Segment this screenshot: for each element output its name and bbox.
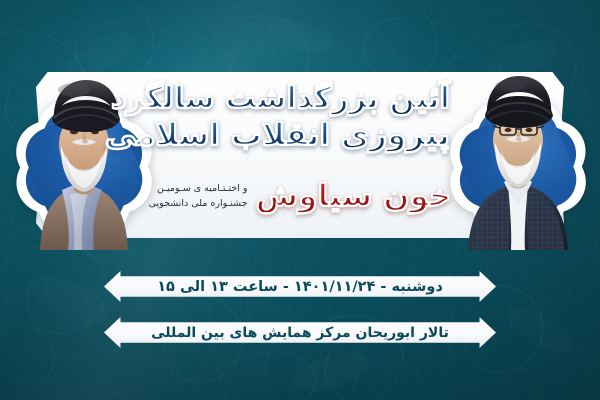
festival-subtitle-line-2: جشنـواره ملی دانشجویی	[149, 197, 248, 211]
festival-subtitle-line-1: و اختـتـامیه ی سـومیـن	[149, 182, 248, 196]
headline-block: آئین بزرگداشت سالگرد پیروزی انقلاب اسلام…	[150, 76, 450, 234]
subtitle-row: خون سیاوش و اختـتـامیه ی سـومیـن جشنـوار…	[150, 181, 450, 212]
venue-banner-text: تالار ابوریحان مرکز همایش های بین المللی	[151, 325, 449, 341]
headline-line-2: پیروزی انقلاب اسلامی	[150, 120, 450, 151]
ayatollah-khamenei-figure	[452, 62, 584, 250]
headline-line-1: آئین بزرگداشت سالگرد	[150, 84, 450, 114]
festival-subtitle: و اختـتـامیه ی سـومیـن جشنـواره ملی دانش…	[149, 182, 248, 211]
ayatollah-khamenei-portrait	[452, 62, 584, 250]
festival-title-red: خون سیاوش	[256, 181, 452, 212]
date-banner-text: دوشنبه - ۱۴۰۱/۱۱/۲۴ - ساعت ۱۳ الی ۱۵	[157, 279, 443, 295]
event-poster: آئین بزرگداشت سالگرد پیروزی انقلاب اسلام…	[0, 0, 600, 400]
